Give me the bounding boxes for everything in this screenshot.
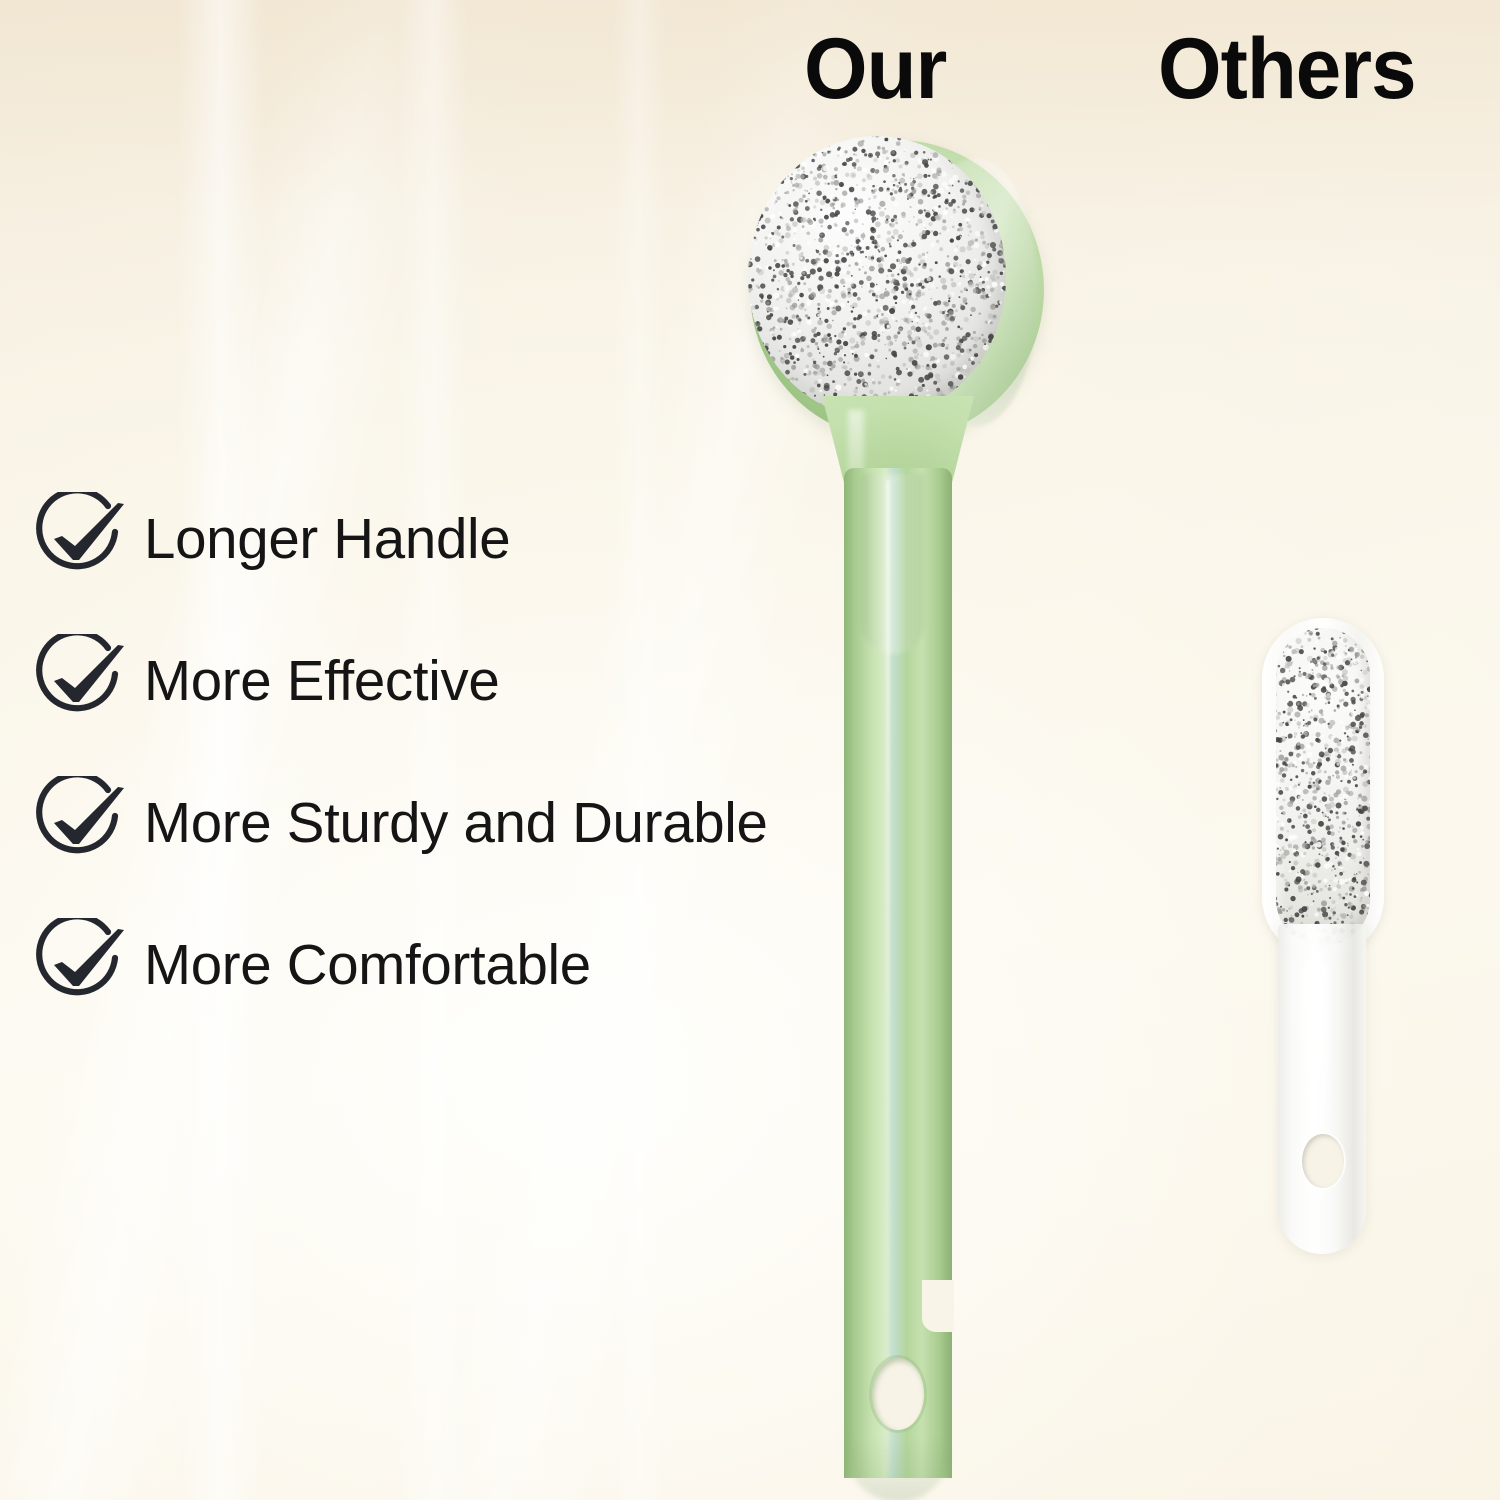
hanging-hole-ours [872,1358,924,1430]
feature-label: More Effective [144,642,499,720]
our-product-image [726,128,1046,1488]
feature-item: More Comfortable [32,918,792,1060]
check-circle-icon [32,918,130,1012]
pumice-stone-oval [1276,628,1370,946]
check-circle-icon [32,634,130,728]
handle-side-notch [922,1280,954,1332]
handle-shaft-panel [862,474,924,654]
feature-label: Longer Handle [144,500,510,578]
pumice-stone-round [748,136,1006,418]
feature-item: More Sturdy and Durable [32,776,792,918]
column-header-others: Others [1158,26,1416,112]
column-header-ours: Our [804,26,946,112]
feature-item: More Effective [32,634,792,776]
check-circle-icon [32,492,130,586]
feature-label: More Sturdy and Durable [144,784,768,862]
feature-item: Longer Handle [32,492,792,634]
others-product-image [1252,618,1412,1318]
feature-label: More Comfortable [144,926,591,1004]
hanging-hole-others [1302,1134,1344,1188]
feature-list: Longer Handle More Effective More Sturdy… [32,492,792,1060]
product-comparison-image: Our Others Longer Handle More Effective [0,0,1500,1500]
check-circle-icon [32,776,130,870]
